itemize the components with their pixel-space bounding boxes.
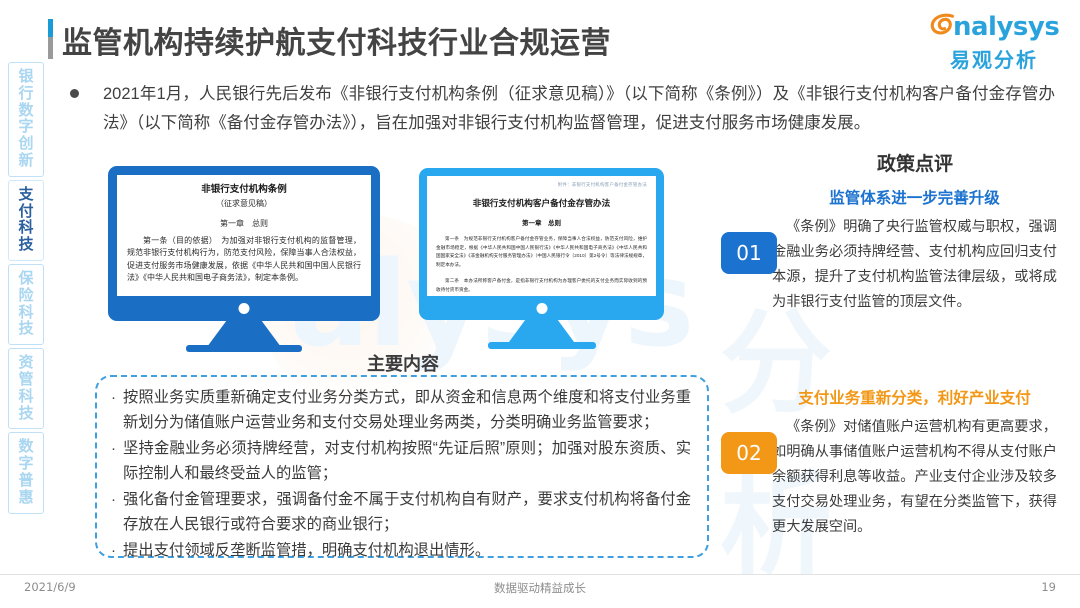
document-body: 第一条（目的依据） 为加强对非银行支付机构的监督管理，规范非银行支付机构行为，防… xyxy=(127,235,361,285)
monitor-stand-neck xyxy=(207,321,281,347)
list-bullet-icon: · xyxy=(111,385,123,435)
list-item: · 提出支付领域反垄断监管措，明确支付机构退出情形。 xyxy=(111,538,691,563)
sidebar-label-char: 新 xyxy=(18,153,33,170)
policy-panel-title: 政策点评 xyxy=(770,149,1060,176)
monitor-screen: 非银行支付机构条例 （征求意见稿） 第一章 总则 第一条（目的依据） 为加强对非… xyxy=(117,175,371,296)
sidebar-item-label: 银行数字创新 xyxy=(18,69,33,170)
monitor-power-dot-icon xyxy=(239,303,250,314)
sidebar-label-char: 支 xyxy=(18,187,33,204)
list-item-text: 强化备付金管理要求，强调备付金不属于支付机构自有财产，要求支付机构将备付金存放在… xyxy=(123,487,691,537)
monitor-frame: 非银行支付机构条例 （征求意见稿） 第一章 总则 第一条（目的依据） 为加强对非… xyxy=(108,166,380,321)
document-chapter: 第一章 总则 xyxy=(436,217,647,227)
monitor-stand-base xyxy=(488,342,596,349)
document-body-1: 第一条 为规范非银行支付机构客户备付金存管业务，保障当事人合法权益，防范支付风险… xyxy=(436,235,647,269)
list-bullet-icon: · xyxy=(111,487,123,537)
logo-wordmark: nalysys xyxy=(953,14,1059,40)
sidebar-label-char: 管 xyxy=(18,372,33,389)
list-item: · 强化备付金管理要求，强调备付金不属于支付机构自有财产，要求支付机构将备付金存… xyxy=(111,487,691,537)
sidebar-item-label: 支付科技 xyxy=(18,187,33,254)
page-title: 监管机构持续护航支付科技行业合规运营 xyxy=(62,18,611,62)
sidebar-label-char: 行 xyxy=(18,86,33,103)
sidebar-label-char: 银 xyxy=(18,69,33,86)
list-item-text: 按照业务实质重新确定支付业务分类方式，即从资金和信息两个维度和将支付业务重新划分… xyxy=(123,385,691,435)
list-bullet-icon: · xyxy=(111,538,123,563)
sidebar-item-label: 资管科技 xyxy=(18,355,33,422)
footer: 2021/6/9 数据驱动精益成长 19 xyxy=(0,578,1080,600)
sidebar-label-char: 科 xyxy=(18,305,33,322)
monitor-custody-document: 附件：非银行支付机构客户备付金存管办法 非银行支付机构客户备付金存管办法 第一章… xyxy=(419,168,664,320)
sidebar-label-char: 技 xyxy=(18,237,33,254)
sidebar-item-asset-management-tech[interactable]: 资管科技 xyxy=(8,348,44,429)
sidebar-item-payment-tech[interactable]: 支付科技 xyxy=(8,180,44,261)
main-content-heading: 主要内容 xyxy=(98,350,708,376)
sidebar-item-digital-inclusive-finance[interactable]: 数字普惠 xyxy=(8,432,44,513)
monitor-frame: 附件：非银行支付机构客户备付金存管办法 非银行支付机构客户备付金存管办法 第一章… xyxy=(419,168,664,320)
list-item-text: 提出支付领域反垄断监管措，明确支付机构退出情形。 xyxy=(123,538,691,563)
list-item: · 坚持金融业务必须持牌经营，对支付机构按照“先证后照”原则；加强对股东资质、实… xyxy=(111,436,691,486)
title-accent-bar xyxy=(48,19,53,59)
footer-slogan: 数据驱动精益成长 xyxy=(0,580,1080,596)
sidebar-label-char: 字 xyxy=(18,456,33,473)
sidebar-label-char: 创 xyxy=(18,136,33,153)
policy-badge-number: 02 xyxy=(736,441,761,465)
sidebar-label-char: 技 xyxy=(18,406,33,423)
list-item: · 按照业务实质重新确定支付业务分类方式，即从资金和信息两个维度和将支付业务重新… xyxy=(111,385,691,435)
document-chapter: 第一章 总则 xyxy=(127,218,361,229)
monitor-screen: 附件：非银行支付机构客户备付金存管办法 非银行支付机构客户备付金存管办法 第一章… xyxy=(427,176,656,296)
document-header: 附件：非银行支付机构客户备付金存管办法 xyxy=(436,182,647,188)
policy-entry-body: 《条例》明确了央行监管权威与职权，强调金融业务必须持牌经营、支付机构应回归支付本… xyxy=(772,215,1057,315)
sidebar-item-bank-digital-innovation[interactable]: 银行数字创新 xyxy=(8,62,44,177)
sidebar-label-char: 惠 xyxy=(18,490,33,507)
sidebar: 银行数字创新 支付科技 保险科技 资管科技 数字普惠 xyxy=(8,62,44,517)
sidebar-label-char: 科 xyxy=(18,389,33,406)
list-item-text: 坚持金融业务必须持牌经营，对支付机构按照“先证后照”原则；加强对股东资质、实际控… xyxy=(123,436,691,486)
policy-entry-01: 监管体系进一步完善升级 《条例》明确了央行监管权威与职权，强调金融业务必须持牌经… xyxy=(772,188,1057,315)
sidebar-label-char: 保 xyxy=(18,271,33,288)
document-body-2: 第二条 本办法所称客户备付金，是指非银行支付机构为办理客户委托的支付业务而实际收… xyxy=(436,277,647,294)
policy-entry-heading: 监管体系进一步完善升级 xyxy=(772,188,1057,210)
analysys-logo: nalysys 易观分析 xyxy=(930,12,1058,70)
sidebar-label-char: 科 xyxy=(18,220,33,237)
logo-chinese: 易观分析 xyxy=(930,44,1058,73)
document-title: 非银行支付机构条例 xyxy=(127,183,361,197)
policy-entry-02: 支付业务重新分类，利好产业支付 《条例》对储值账户运营机构有更高要求，如明确从事… xyxy=(772,388,1057,540)
monitor-power-dot-icon xyxy=(536,303,547,314)
sidebar-label-char: 数 xyxy=(18,103,33,120)
policy-badge-number: 01 xyxy=(736,241,761,265)
main-content-box: · 按照业务实质重新确定支付业务分类方式，即从资金和信息两个维度和将支付业务重新… xyxy=(95,375,709,558)
monitor-regulation-document: 非银行支付机构条例 （征求意见稿） 第一章 总则 第一条（目的依据） 为加强对非… xyxy=(108,166,380,321)
intro-text: 2021年1月，人民银行先后发布《非银行支付机构条例（征求意见稿）》（以下简称《… xyxy=(103,80,1055,138)
bullet-dot-icon xyxy=(70,89,79,98)
sidebar-label-char: 数 xyxy=(18,439,33,456)
sidebar-label-char: 普 xyxy=(18,473,33,490)
policy-entry-heading: 支付业务重新分类，利好产业支付 xyxy=(772,388,1057,410)
sidebar-label-char: 险 xyxy=(18,288,33,305)
policy-badge-01: 01 xyxy=(721,232,777,274)
policy-entry-body: 《条例》对储值账户运营机构有更高要求，如明确从事储值账户运营机构不得从支付账户余… xyxy=(772,415,1057,540)
document-subtitle: （征求意见稿） xyxy=(127,198,361,209)
footer-page-number: 19 xyxy=(1041,580,1056,594)
sidebar-label-char: 付 xyxy=(18,204,33,221)
sidebar-item-insurance-tech[interactable]: 保险科技 xyxy=(8,264,44,345)
document-title: 非银行支付机构客户备付金存管办法 xyxy=(436,197,647,209)
sidebar-label-char: 技 xyxy=(18,321,33,338)
policy-badge-02: 02 xyxy=(721,432,777,474)
sidebar-item-label: 数字普惠 xyxy=(18,439,33,506)
footer-divider xyxy=(0,574,1080,575)
list-bullet-icon: · xyxy=(111,436,123,486)
sidebar-item-label: 保险科技 xyxy=(18,271,33,338)
intro-paragraph: 2021年1月，人民银行先后发布《非银行支付机构条例（征求意见稿）》（以下简称《… xyxy=(70,80,1055,138)
sidebar-label-char: 字 xyxy=(18,119,33,136)
sidebar-label-char: 资 xyxy=(18,355,33,372)
monitor-stand-neck xyxy=(508,320,576,344)
